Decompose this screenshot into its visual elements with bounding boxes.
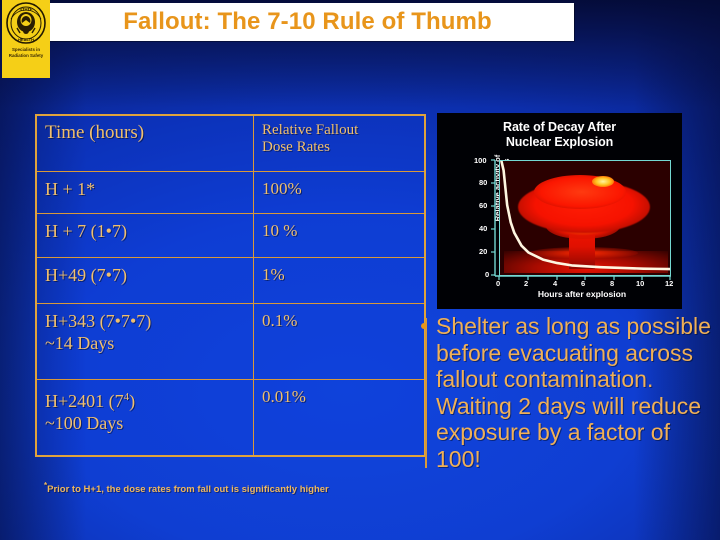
organization-logo: STATE HEALTH Specialists in Radiation Sa… bbox=[2, 0, 50, 78]
bullet-marker-icon bbox=[421, 323, 427, 329]
table-cell-rate: 0.01% bbox=[254, 380, 426, 457]
table-cell-time: H+343 (7•7•7) ~14 Days bbox=[36, 304, 254, 380]
page-title: Fallout: The 7-10 Rule of Thumb bbox=[123, 8, 491, 36]
table-cell-rate: 0.1% bbox=[254, 304, 426, 380]
table-row: H+49 (7•7) 1% bbox=[36, 258, 425, 304]
seal-icon: STATE HEALTH bbox=[5, 2, 47, 46]
fallout-dose-rate-table: Time (hours) Relative Fallout Dose Rates… bbox=[35, 114, 426, 457]
table-header-rate-line1: Relative Fallout bbox=[262, 122, 358, 138]
table-header-rate-line2: Dose Rates bbox=[262, 139, 330, 155]
table-cell-time-line1: H+343 (7•7•7) bbox=[45, 311, 151, 331]
table-cell-time-base: H+2401 (7 bbox=[45, 391, 124, 411]
bullet-body-text: Shelter as long as possible before evacu… bbox=[436, 313, 718, 472]
bullet-vertical-rule bbox=[425, 318, 427, 468]
table-header-time: Time (hours) bbox=[36, 115, 254, 172]
table-cell-time-line2: ~100 Days bbox=[45, 412, 245, 434]
chart-plot-area bbox=[499, 160, 671, 276]
table-cell-time: H+2401 (74) ~100 Days bbox=[36, 380, 254, 457]
table-cell-time: H + 1* bbox=[36, 172, 254, 214]
table-row: H+2401 (74) ~100 Days 0.01% bbox=[36, 380, 425, 457]
svg-text:HEALTH: HEALTH bbox=[18, 37, 34, 42]
chart-decay-curve bbox=[500, 161, 671, 276]
table-row: H+343 (7•7•7) ~14 Days 0.1% bbox=[36, 304, 425, 380]
slide-title-bar: Fallout: The 7-10 Rule of Thumb bbox=[41, 3, 574, 41]
table-footnote: *Prior to H+1, the dose rates from fall … bbox=[44, 481, 434, 495]
decay-rate-chart: Rate of Decay After Nuclear Explosion Re… bbox=[437, 113, 682, 309]
footnote-text: Prior to H+1, the dose rates from fall o… bbox=[47, 484, 329, 495]
table-cell-rate: 100% bbox=[254, 172, 426, 214]
table-row: H + 7 (1•7) 10 % bbox=[36, 214, 425, 258]
table-cell-time-line2: ~14 Days bbox=[45, 332, 245, 354]
table-cell-rate: 1% bbox=[254, 258, 426, 304]
logo-caption-line2: Radiation Safety bbox=[3, 53, 49, 59]
table-header-rate: Relative Fallout Dose Rates bbox=[254, 115, 426, 172]
table-row: H + 1* 100% bbox=[36, 172, 425, 214]
slide-canvas: Fallout: The 7-10 Rule of Thumb STATE HE… bbox=[0, 0, 720, 540]
table-cell-rate: 10 % bbox=[254, 214, 426, 258]
table-cell-time-paren: ) bbox=[129, 391, 135, 411]
logo-caption: Specialists in Radiation Safety bbox=[3, 47, 49, 58]
table-cell-time-line1: H+2401 (74) bbox=[45, 391, 135, 411]
table-header-row: Time (hours) Relative Fallout Dose Rates bbox=[36, 115, 425, 172]
svg-text:STATE: STATE bbox=[19, 7, 32, 12]
table-cell-time: H+49 (7•7) bbox=[36, 258, 254, 304]
table-cell-time: H + 7 (1•7) bbox=[36, 214, 254, 258]
